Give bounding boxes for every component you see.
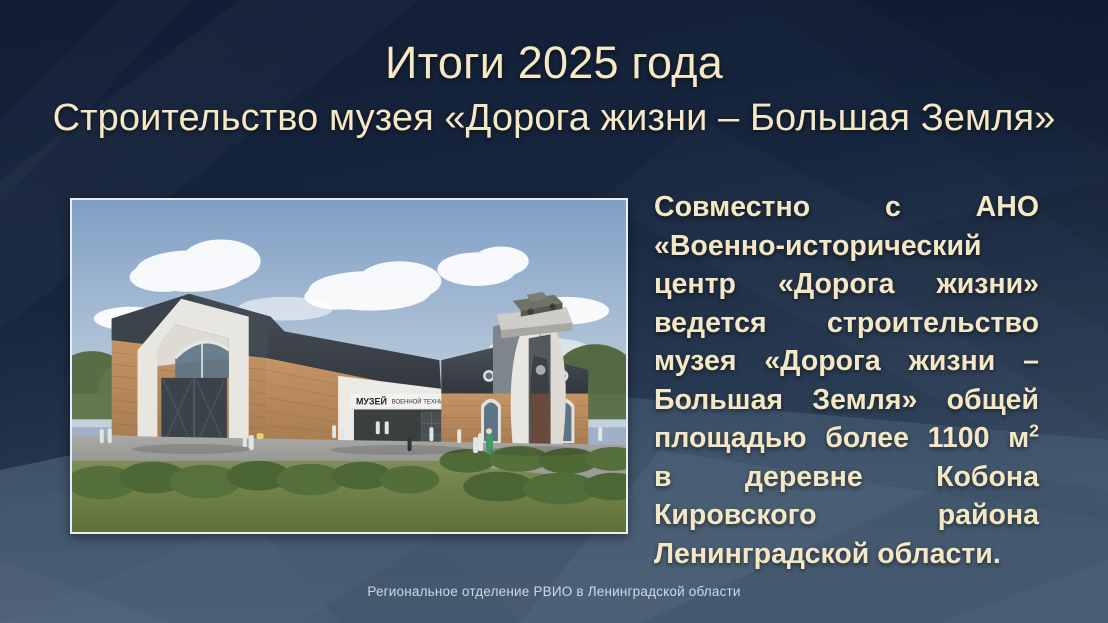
body-line: Большая Земля» общей — [654, 381, 1039, 420]
body-line: Совместно с АНО — [654, 188, 1039, 227]
square-meter-superscript: 2 — [1029, 421, 1039, 441]
slide-footer: Региональное отделение РВИО в Ленинградс… — [0, 583, 1108, 601]
footer-text: Региональное отделение РВИО в Ленинградс… — [367, 584, 740, 599]
slide-subtitle: Строительство музея «Дорога жизни – Боль… — [0, 94, 1108, 142]
presentation-slide: Итоги 2025 года Строительство музея «Дор… — [0, 0, 1108, 623]
body-line: Ленинградской области. — [654, 535, 1039, 574]
slide-title-block: Итоги 2025 года Строительство музея «Дор… — [0, 36, 1108, 142]
body-line: ведется строительство — [654, 304, 1039, 343]
museum-sign-primary: МУЗЕЙ — [356, 396, 387, 407]
body-line: музея «Дорога жизни – — [654, 342, 1039, 381]
museum-render-image: МУЗЕЙ ВОЕННОЙ ТЕХНИКИ — [70, 198, 628, 534]
body-line: в деревне Кобона — [654, 458, 1039, 497]
body-line: Кировского района — [654, 496, 1039, 535]
body-line: «Военно-исторический — [654, 227, 1039, 266]
body-line: центр «Дорога жизни» — [654, 265, 1039, 304]
slide-body-text: Совместно с АНО «Военно-исторический цен… — [654, 188, 1039, 573]
museum-render-illustration: МУЗЕЙ ВОЕННОЙ ТЕХНИКИ — [72, 200, 626, 532]
slide-main-title: Итоги 2025 года — [0, 36, 1108, 90]
body-line-area: площадью более 1100 м2 — [654, 419, 1039, 458]
body-line-area-text: площадью более 1100 м — [654, 422, 1029, 454]
